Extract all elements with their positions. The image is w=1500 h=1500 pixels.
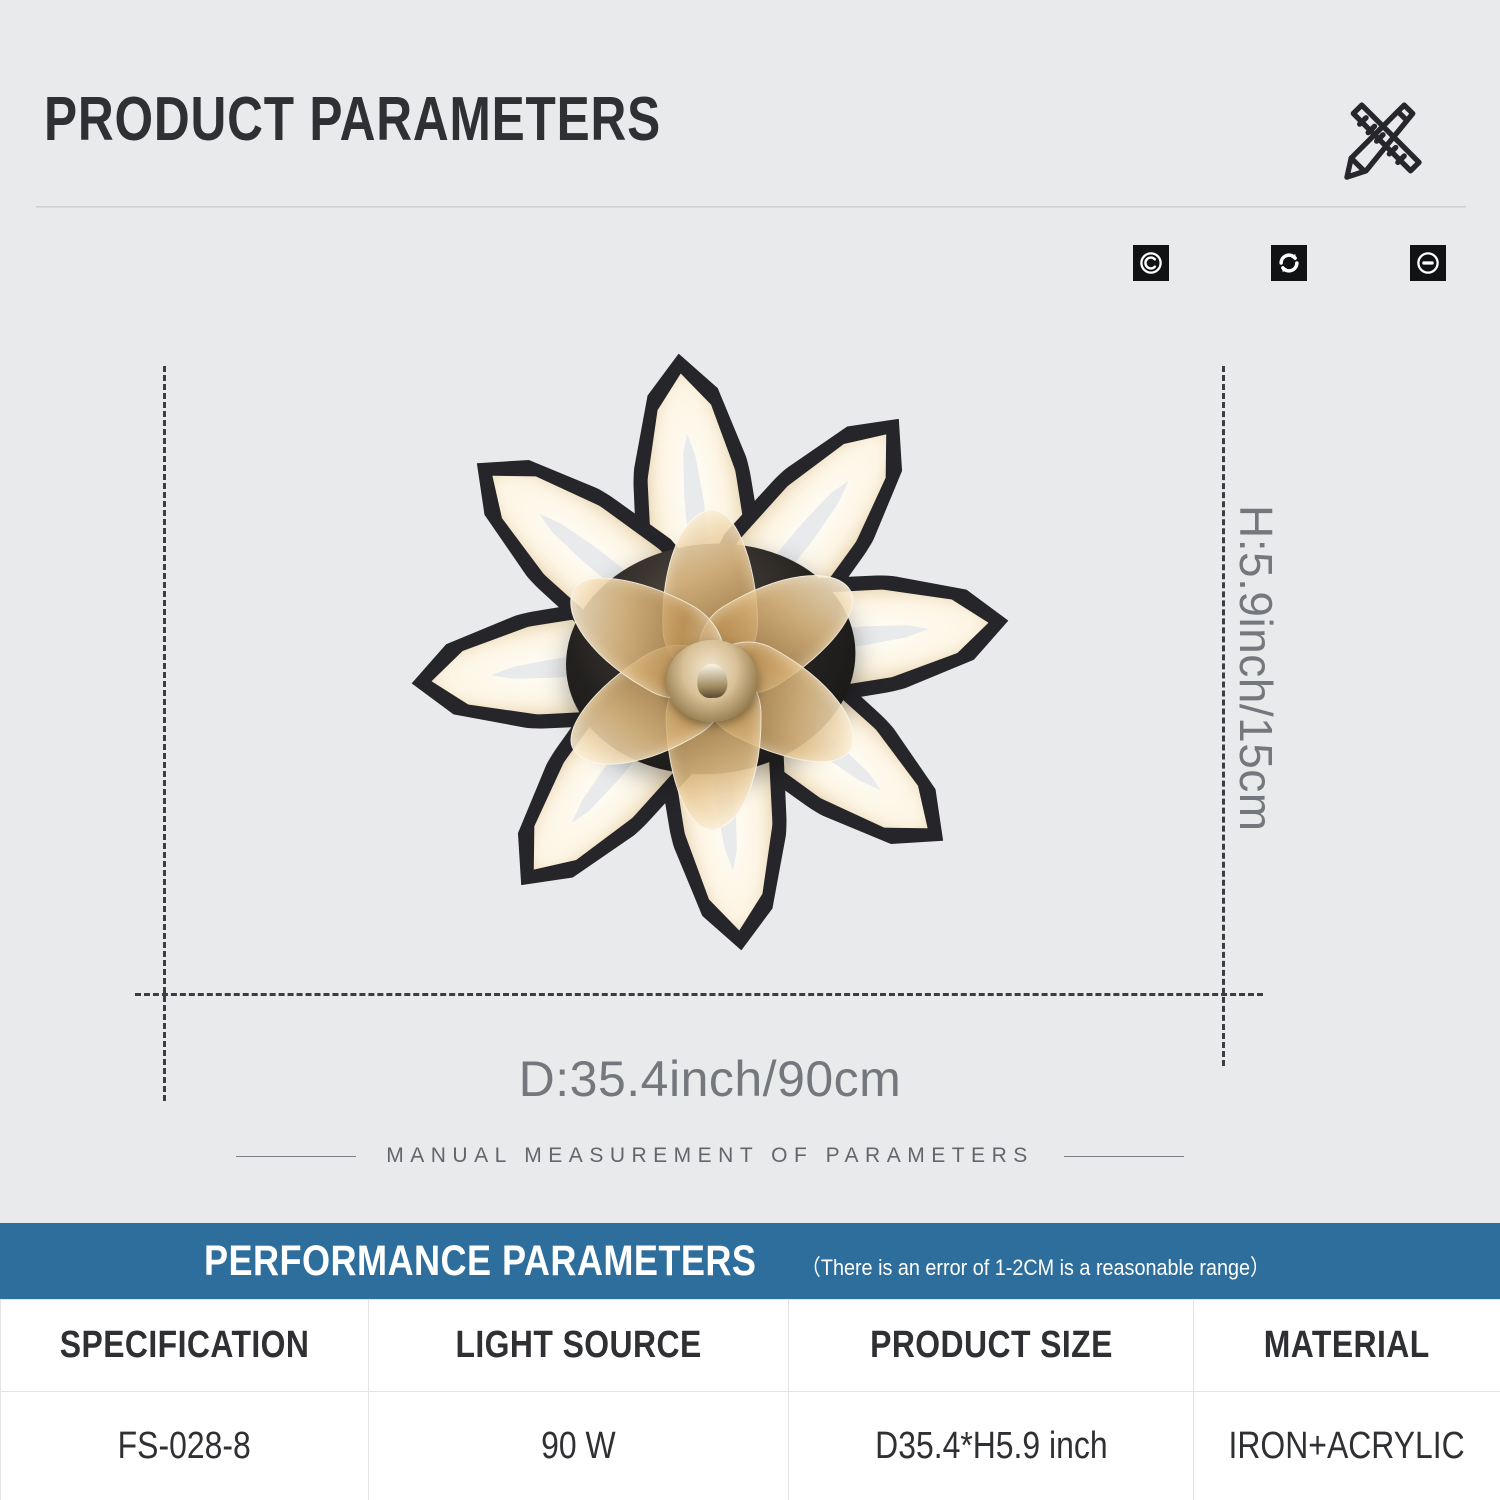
header-divider bbox=[36, 206, 1466, 208]
caption-line-right bbox=[1064, 1156, 1184, 1157]
product-parameters-page: PRODUCT PARAMETERS bbox=[0, 0, 1500, 1500]
diameter-dimension-label: D:35.4inch/90cm bbox=[0, 1050, 1420, 1108]
copyright-icon bbox=[1133, 245, 1169, 281]
table-cell: FS-028-8 bbox=[1, 1392, 369, 1500]
fan-center-bolt bbox=[697, 663, 728, 698]
table-header-cell: SPECIFICATION bbox=[1, 1300, 369, 1392]
caption-text: MANUAL MEASUREMENT OF PARAMETERS bbox=[386, 1144, 1034, 1168]
table-cell: D35.4*H5.9 inch bbox=[789, 1392, 1194, 1500]
table-cell: 90 W bbox=[369, 1392, 789, 1500]
certification-badges bbox=[1133, 245, 1453, 285]
table-header-text: LIGHT SOURCE bbox=[455, 1324, 701, 1367]
table-header-cell: PRODUCT SIZE bbox=[789, 1300, 1194, 1392]
recycle-icon bbox=[1271, 245, 1307, 281]
table-header-text: SPECIFICATION bbox=[60, 1324, 310, 1367]
caption-line-left bbox=[236, 1156, 356, 1157]
table-row: FS-028-8 90 W D35.4*H5.9 inch IRON+ACRYL… bbox=[1, 1392, 1500, 1500]
performance-banner: PERFORMANCE PARAMETERS （There is an erro… bbox=[0, 1223, 1500, 1299]
specification-table: SPECIFICATION LIGHT SOURCE PRODUCT SIZE … bbox=[0, 1299, 1500, 1500]
pencil-ruler-icon bbox=[1330, 86, 1436, 192]
flower-ceiling-fan-light bbox=[147, 298, 1274, 1007]
table-header-row: SPECIFICATION LIGHT SOURCE PRODUCT SIZE … bbox=[1, 1300, 1500, 1392]
table-header-text: PRODUCT SIZE bbox=[870, 1324, 1113, 1367]
banner-title: PERFORMANCE PARAMETERS bbox=[204, 1237, 756, 1286]
table-header-cell: MATERIAL bbox=[1194, 1300, 1500, 1392]
measurement-caption: MANUAL MEASUREMENT OF PARAMETERS bbox=[0, 1144, 1420, 1168]
table-cell-text: FS-028-8 bbox=[118, 1425, 251, 1468]
table-header-text: MATERIAL bbox=[1264, 1324, 1430, 1367]
table-cell-text: IRON+ACRYLIC bbox=[1229, 1425, 1465, 1468]
no-entry-icon bbox=[1410, 245, 1446, 281]
banner-note: （There is an error of 1-2CM is a reasona… bbox=[801, 1250, 1270, 1282]
table-header-cell: LIGHT SOURCE bbox=[369, 1300, 789, 1392]
table-cell-text: D35.4*H5.9 inch bbox=[875, 1425, 1107, 1468]
product-measurement-stage bbox=[120, 300, 1300, 1040]
height-dimension-label: H:5.9inch/15cm bbox=[1229, 505, 1283, 832]
fan-blades bbox=[496, 493, 928, 847]
table-cell: IRON+ACRYLIC bbox=[1194, 1392, 1500, 1500]
table-cell-text: 90 W bbox=[541, 1425, 616, 1468]
page-title: PRODUCT PARAMETERS bbox=[44, 84, 661, 155]
